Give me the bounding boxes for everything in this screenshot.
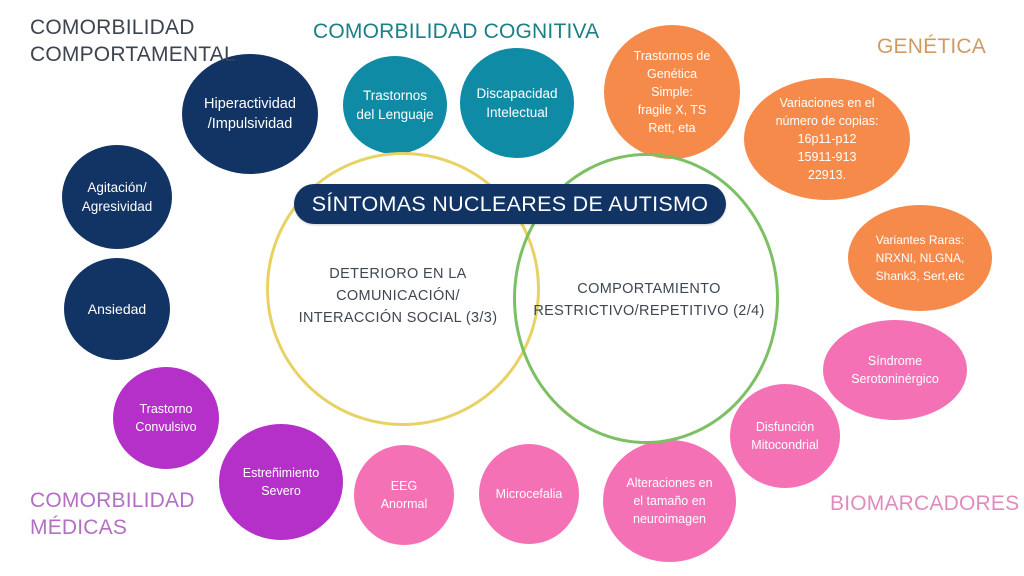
bubble-label: Variaciones en el número de copias: 16p1… [744, 94, 910, 184]
bubble-neuroimagen: Alteraciones en el tamaño en neuroimagen [603, 440, 736, 562]
bubble-label: Agitación/ Agresividad [62, 178, 172, 216]
bubble-hiperactividad: Hiperactividad /Impulsividad [182, 54, 318, 174]
central-banner-label: SÍNTOMAS NUCLEARES DE AUTISMO [312, 192, 709, 217]
bubble-label: EEG Anormal [354, 477, 454, 513]
diagram-canvas: DETERIORO EN LA COMUNICACIÓN/ INTERACCIÓ… [0, 0, 1024, 576]
bubble-ansiedad: Ansiedad [64, 258, 170, 360]
bubble-variantes-raras: Variantes Raras: NRXNI, NLGNA, Shank3, S… [848, 205, 992, 311]
category-label-biomarkers: BIOMARCADORES [830, 490, 1019, 517]
bubble-label: Hiperactividad /Impulsividad [182, 94, 318, 134]
bubble-label: Trastornos del Lenguaje [343, 86, 447, 124]
category-label-genetic: GENÉTICA [877, 33, 986, 60]
bubble-serotoninergico: Síndrome Serotoninérgico [823, 320, 967, 420]
bubble-microcefalia: Microcefalia [479, 444, 579, 544]
bubble-copias: Variaciones en el número de copias: 16p1… [744, 78, 910, 200]
bubble-label: Variantes Raras: NRXNI, NLGNA, Shank3, S… [848, 231, 992, 285]
bubble-label: Síndrome Serotoninérgico [823, 352, 967, 388]
bubble-label: Discapacidad Intelectual [460, 84, 574, 122]
bubble-genetica-simple: Trastornos de Genética Simple: fragile X… [604, 25, 740, 159]
bubble-mitocondrial: Disfunción Mitocondrial [730, 384, 840, 488]
bubble-label: Disfunción Mitocondrial [730, 418, 840, 454]
core-label-restrictive: COMPORTAMIENTO RESTRICTIVO/REPETITIVO (2… [527, 278, 771, 322]
core-label-communication: DETERIORO EN LA COMUNICACIÓN/ INTERACCIÓ… [282, 263, 514, 329]
bubble-estrenimiento: Estreñimiento Severo [219, 424, 343, 540]
bubble-convulsivo: Trastorno Convulsivo [113, 367, 219, 469]
bubble-label: Estreñimiento Severo [219, 464, 343, 500]
category-label-cognitive: COMORBILIDAD COGNITIVA [313, 18, 599, 45]
bubble-label: Ansiedad [64, 300, 170, 319]
bubble-eeg: EEG Anormal [354, 445, 454, 545]
category-label-medical: COMORBILIDAD MÉDICAS [30, 487, 195, 541]
bubble-label: Trastorno Convulsivo [113, 400, 219, 436]
bubble-label: Trastornos de Genética Simple: fragile X… [604, 47, 740, 137]
bubble-label: Alteraciones en el tamaño en neuroimagen [603, 474, 736, 528]
category-label-behavioral: COMORBILIDAD COMPORTAMENTAL [30, 14, 236, 68]
bubble-discapacidad: Discapacidad Intelectual [460, 48, 574, 158]
central-banner: SÍNTOMAS NUCLEARES DE AUTISMO [294, 184, 726, 224]
bubble-agitacion: Agitación/ Agresividad [62, 145, 172, 249]
bubble-label: Microcefalia [479, 485, 579, 503]
bubble-lenguaje: Trastornos del Lenguaje [343, 56, 447, 154]
